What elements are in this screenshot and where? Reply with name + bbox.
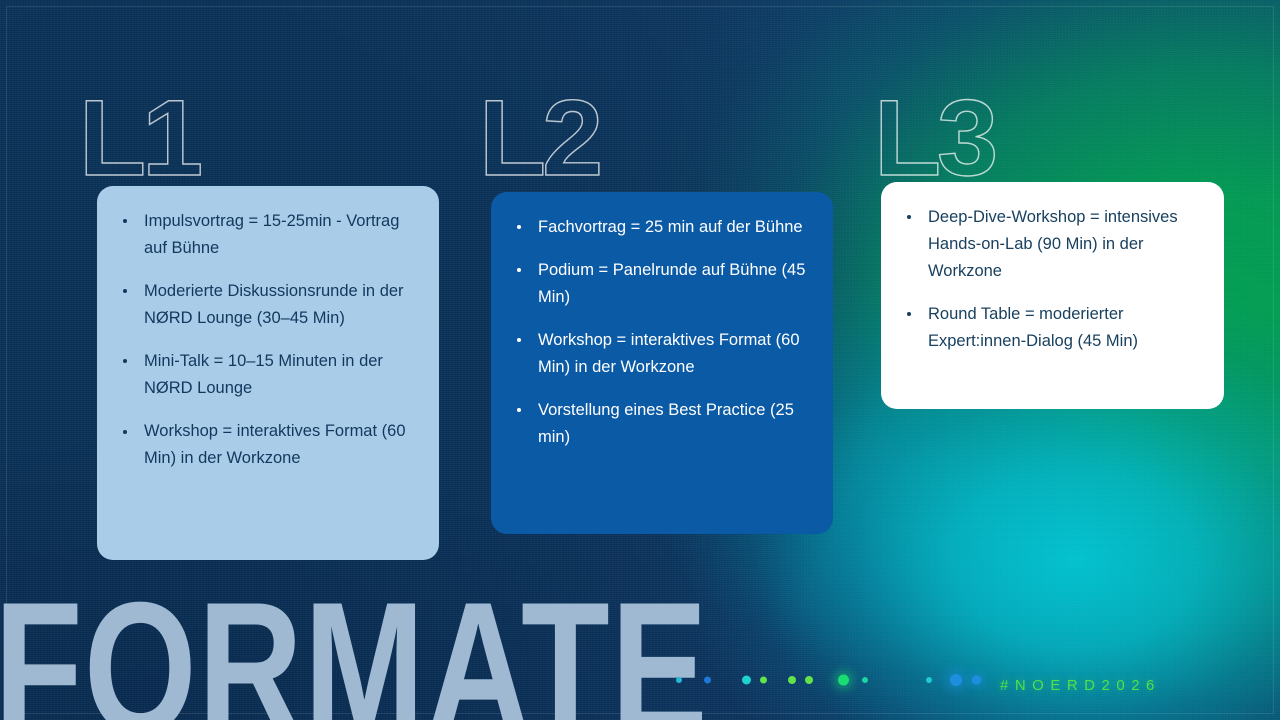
level-card-l1: Impulsvortrag = 15-25min - Vortrag auf B…: [97, 186, 439, 560]
decorative-dot: [838, 675, 849, 686]
slide-canvas: L1 L2 L3 Impulsvortrag = 15-25min - Vort…: [0, 0, 1280, 720]
page-title: FORMATE: [0, 582, 709, 720]
level-mark-l3: L3: [874, 84, 994, 192]
decorative-dot: [676, 677, 682, 683]
level-l1-list: Impulsvortrag = 15-25min - Vortrag auf B…: [119, 208, 413, 472]
decorative-dot: [950, 674, 962, 686]
list-item-text: Fachvortrag = 25 min auf der Bühne: [538, 218, 803, 236]
list-item: Deep-Dive-Workshop = intensives Hands-on…: [903, 204, 1198, 285]
decorative-dot: [788, 676, 796, 684]
bullet-icon: [907, 215, 911, 219]
list-item: Moderierte Diskussionsrunde in der NØRD …: [119, 278, 413, 332]
level-mark-l1: L1: [79, 84, 199, 192]
list-item-text: Vorstellung eines Best Practice (25 min): [538, 401, 794, 446]
level-l2-list: Fachvortrag = 25 min auf der Bühne Podiu…: [513, 214, 807, 451]
level-mark-l2: L2: [479, 84, 599, 192]
list-item: Workshop = interaktives Format (60 Min) …: [513, 327, 807, 381]
decorative-dot: [805, 676, 813, 684]
event-hashtag: #NOERD2026: [1000, 677, 1161, 694]
bullet-icon: [123, 430, 127, 434]
list-item: Vorstellung eines Best Practice (25 min): [513, 397, 807, 451]
bullet-icon: [517, 268, 521, 272]
list-item-text: Deep-Dive-Workshop = intensives Hands-on…: [928, 208, 1178, 280]
list-item: Mini-Talk = 10–15 Minuten in der NØRD Lo…: [119, 348, 413, 402]
list-item-text: Round Table = moderierter Expert:innen-D…: [928, 305, 1138, 350]
decorative-dot: [926, 677, 932, 683]
decorative-dot-row: [660, 668, 990, 692]
bullet-icon: [517, 408, 521, 412]
list-item-text: Moderierte Diskussionsrunde in der NØRD …: [144, 282, 404, 327]
list-item-text: Workshop = interaktives Format (60 Min) …: [144, 422, 406, 467]
list-item-text: Impulsvortrag = 15-25min - Vortrag auf B…: [144, 212, 399, 257]
level-card-l2: Fachvortrag = 25 min auf der Bühne Podiu…: [491, 192, 833, 534]
decorative-dot: [862, 677, 868, 683]
level-l3-list: Deep-Dive-Workshop = intensives Hands-on…: [903, 204, 1198, 355]
bullet-icon: [517, 338, 521, 342]
list-item-text: Workshop = interaktives Format (60 Min) …: [538, 331, 800, 376]
list-item: Round Table = moderierter Expert:innen-D…: [903, 301, 1198, 355]
decorative-dot: [742, 676, 751, 685]
list-item: Impulsvortrag = 15-25min - Vortrag auf B…: [119, 208, 413, 262]
list-item-text: Mini-Talk = 10–15 Minuten in der NØRD Lo…: [144, 352, 383, 397]
bullet-icon: [907, 312, 911, 316]
bullet-icon: [123, 289, 127, 293]
bullet-icon: [123, 359, 127, 363]
list-item: Workshop = interaktives Format (60 Min) …: [119, 418, 413, 472]
decorative-dot: [704, 677, 711, 684]
bullet-icon: [517, 225, 521, 229]
list-item: Fachvortrag = 25 min auf der Bühne: [513, 214, 807, 241]
list-item-text: Podium = Panelrunde auf Bühne (45 Min): [538, 261, 805, 306]
list-item: Podium = Panelrunde auf Bühne (45 Min): [513, 257, 807, 311]
decorative-dot: [760, 677, 767, 684]
level-card-l3: Deep-Dive-Workshop = intensives Hands-on…: [881, 182, 1224, 409]
decorative-dot: [972, 676, 981, 685]
bullet-icon: [123, 219, 127, 223]
